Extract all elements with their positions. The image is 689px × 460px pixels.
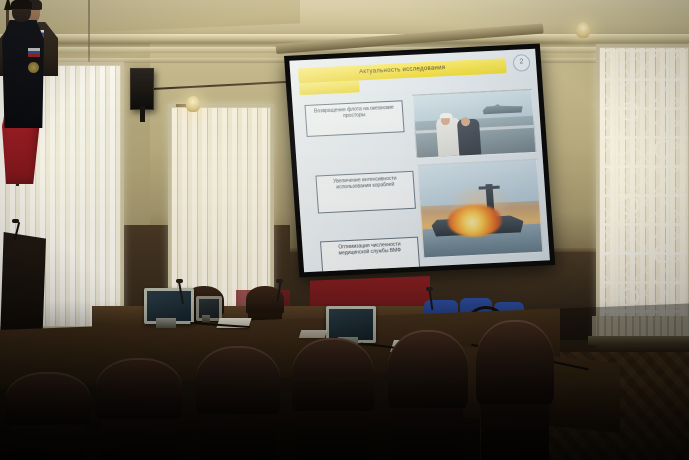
chair-foreground[interactable]	[388, 330, 468, 460]
grille-ring-icon	[620, 196, 639, 215]
chair-foreground[interactable]	[292, 338, 374, 460]
window-mid	[168, 104, 274, 316]
monitor-stand	[202, 315, 211, 322]
hair	[11, 0, 32, 9]
chair-seat	[11, 425, 85, 460]
slide-title: Актуальность исследования	[298, 58, 507, 83]
flag-patch-icon	[28, 48, 40, 57]
wall-speaker-icon	[130, 68, 154, 110]
slide-text-box-1: Возвращение флота на океанские просторы	[304, 100, 404, 137]
microphone-head-icon	[276, 279, 283, 283]
chair-back	[196, 346, 280, 417]
lectern	[0, 232, 46, 342]
photo-naval-cap-icon	[439, 113, 452, 118]
microphone-head-icon	[12, 219, 19, 223]
slide-text-box-2: Увеличение интенсивности использования к…	[315, 171, 416, 214]
chair-foreground[interactable]	[196, 346, 280, 460]
chair-back	[388, 330, 468, 411]
chair-seat	[481, 404, 550, 460]
chair-back	[96, 358, 182, 421]
decorative-window-grille-icon	[601, 49, 687, 339]
chair-foreground[interactable]	[476, 320, 554, 460]
presentation-slide: Актуальность исследования 2 Возвращение …	[289, 49, 550, 273]
vertical-blinds-mid[interactable]	[172, 108, 270, 312]
microphone-head-icon	[176, 279, 183, 283]
chair-seat	[297, 411, 369, 460]
grille-ring-icon	[654, 140, 673, 159]
slide-number-badge: 2	[512, 54, 530, 72]
slide-text-box-3: Оптимизация численности медицинской служ…	[320, 237, 421, 273]
wall-sconce-left-icon	[186, 96, 200, 112]
slide-photo-warship	[417, 159, 543, 259]
wall-sconce-right-icon	[576, 22, 590, 38]
paper-sheet[interactable]	[299, 330, 328, 338]
monitor-stand	[156, 318, 175, 328]
chair-seat	[201, 414, 275, 460]
projection-screen[interactable]: Актуальность исследования 2 Возвращение …	[284, 43, 555, 277]
chair-foreground[interactable]	[96, 358, 182, 460]
chair-seat	[101, 419, 177, 460]
chair-seat	[393, 408, 463, 460]
uniform-torso	[2, 20, 44, 128]
crt-monitor[interactable]	[196, 296, 216, 322]
chair-foreground[interactable]	[6, 372, 90, 460]
conference-room-photo: Актуальность исследования 2 Возвращение …	[0, 0, 689, 460]
grille-ring-icon	[654, 244, 673, 263]
window-right	[596, 44, 689, 344]
speaker-bracket	[140, 106, 145, 122]
chair-back	[6, 372, 90, 427]
chair-back	[292, 338, 374, 414]
slide-photo-officers	[412, 89, 536, 159]
grille-ring-icon	[620, 102, 639, 121]
chair-back	[476, 320, 554, 407]
microphone-head-icon	[426, 287, 433, 291]
grille-ring-icon	[620, 288, 639, 307]
sleeve-emblem-icon	[28, 62, 39, 73]
